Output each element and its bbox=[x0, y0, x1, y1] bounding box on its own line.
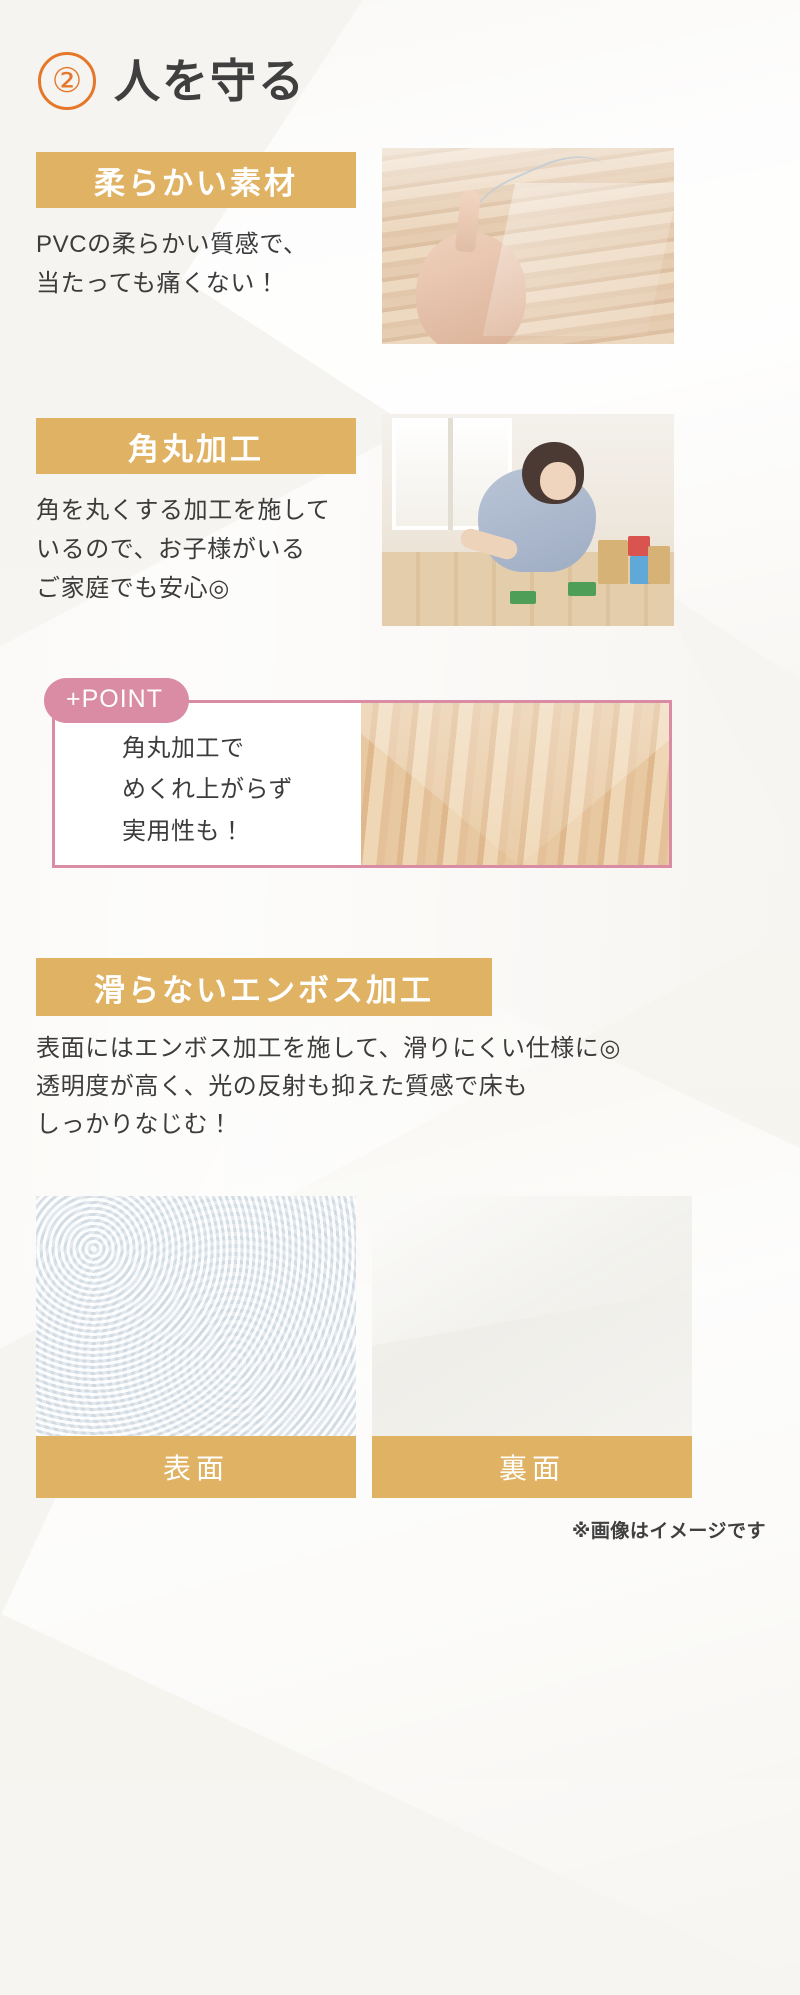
toy-block bbox=[568, 582, 596, 596]
soft-pvc-sheet-photo bbox=[382, 148, 674, 344]
sample-front: 表面 bbox=[36, 1196, 356, 1498]
point-text-line: 角丸加工で bbox=[122, 728, 293, 769]
feature-body-rounded-corner: 角を丸くする加工を施して いるので、お子様がいる ご家庭でも安心◎ bbox=[36, 492, 366, 609]
sample-caption-front: 表面 bbox=[36, 1436, 356, 1498]
page-title: 人を守る bbox=[114, 58, 306, 104]
feature-body-line: いるので、お子様がいる bbox=[36, 531, 366, 570]
mat-corner-overlay bbox=[361, 703, 669, 865]
toy-block bbox=[510, 591, 536, 604]
toy-block bbox=[648, 546, 670, 584]
infographic-page: ② 人を守る 柔らかい素材 PVCの柔らかい質感で、 当たっても痛くない！ 角丸… bbox=[0, 0, 800, 1780]
point-callout: +POINT 角丸加工で めくれ上がらず 実用性も！ bbox=[52, 700, 672, 868]
child-playing-blocks-photo bbox=[382, 414, 674, 626]
feature-body-soft-material: PVCの柔らかい質感で、 当たっても痛くない！ bbox=[36, 226, 366, 304]
image-disclaimer: ※画像はイメージです bbox=[572, 1516, 766, 1543]
feature-body-line: 当たっても痛くない！ bbox=[36, 265, 366, 304]
feature-body-line: 表面にはエンボス加工を施して、滑りにくい仕様に◎ bbox=[36, 1030, 736, 1068]
feature-body-line: しっかりなじむ！ bbox=[36, 1106, 736, 1144]
sample-back: 裏面 bbox=[372, 1196, 692, 1498]
sample-caption-back: 裏面 bbox=[372, 1436, 692, 1498]
feature-badge-rounded-corner: 角丸加工 bbox=[36, 418, 356, 474]
toy-block bbox=[598, 540, 628, 584]
feature-body-line: ご家庭でも安心◎ bbox=[36, 570, 366, 609]
front-surface-texture-photo bbox=[36, 1196, 356, 1436]
feature-body-emboss: 表面にはエンボス加工を施して、滑りにくい仕様に◎ 透明度が高く、光の反射も抑えた… bbox=[36, 1030, 736, 1144]
feature-badge-soft-material: 柔らかい素材 bbox=[36, 152, 356, 208]
point-label-badge: +POINT bbox=[44, 678, 189, 723]
point-text-line: 実用性も！ bbox=[122, 811, 293, 852]
feature-body-line: 透明度が高く、光の反射も抑えた質感で床も bbox=[36, 1068, 736, 1106]
child-face-shape bbox=[540, 462, 576, 500]
feature-body-line: PVCの柔らかい質感で、 bbox=[36, 226, 366, 265]
point-text: 角丸加工で めくれ上がらず 実用性も！ bbox=[122, 728, 293, 852]
rounded-corner-mat-photo bbox=[361, 703, 669, 865]
point-text-line: めくれ上がらず bbox=[122, 769, 293, 810]
back-surface-texture-photo bbox=[372, 1196, 692, 1436]
hand-shape bbox=[416, 232, 526, 344]
section-number-badge: ② bbox=[38, 52, 96, 110]
feature-body-line: 角を丸くする加工を施して bbox=[36, 492, 366, 531]
feature-badge-emboss: 滑らないエンボス加工 bbox=[36, 958, 492, 1016]
section-header: ② 人を守る bbox=[38, 52, 306, 110]
toy-block bbox=[628, 536, 650, 556]
